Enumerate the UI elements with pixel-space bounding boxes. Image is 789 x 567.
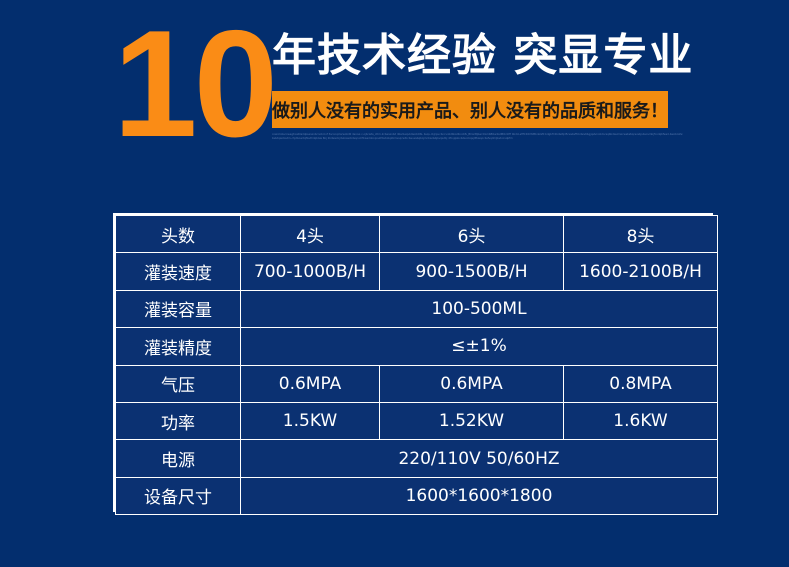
row-value-cell: 700-1000B/H xyxy=(241,253,380,290)
table-row: 头数4头6头8头 xyxy=(116,216,718,253)
row-label-cell: 设备尺寸 xyxy=(116,477,241,514)
table-row: 灌装速度700-1000B/H900-1500B/H1600-2100B/H xyxy=(116,253,718,290)
row-value-cell: 0.6MPA xyxy=(241,365,380,402)
hero-headline: 年技术经验 突显专业 xyxy=(272,30,672,82)
row-value-cell: 0.8MPA xyxy=(564,365,718,402)
row-label-cell: 电源 xyxy=(116,440,241,477)
hero-text-block: 年技术经验 突显专业 做别人没有的实用产品、别人没有的品质和服务！ cowicl… xyxy=(272,30,672,141)
spec-table-element: 头数4头6头8头灌装速度700-1000B/H900-1500B/H1600-2… xyxy=(115,215,718,515)
promo-spec-page: { "colors": { "background": "#032e6e", "… xyxy=(0,0,789,567)
table-row: 设备尺寸1600*1600*1800 xyxy=(116,477,718,514)
row-value-cell-merged: 100-500ML xyxy=(241,290,718,327)
hero-tagline-bar: 做别人没有的实用产品、别人没有的品质和服务！ xyxy=(272,91,668,128)
row-value-cell: 1.5KW xyxy=(241,402,380,439)
row-label-cell: 灌装精度 xyxy=(116,328,241,365)
hero-banner: 10 年技术经验 突显专业 做别人没有的实用产品、别人没有的品质和服务！ cow… xyxy=(0,0,789,185)
row-value-cell: 1600-2100B/H xyxy=(564,253,718,290)
row-value-cell: 0.6MPA xyxy=(380,365,564,402)
row-label-cell: 灌装速度 xyxy=(116,253,241,290)
row-value-cell-merged: 1600*1600*1800 xyxy=(241,477,718,514)
hero-tagline-text: 做别人没有的实用产品、别人没有的品质和服务！ xyxy=(272,97,668,123)
column-header-cell: 4头 xyxy=(241,216,380,253)
table-row: 电源220/110V 50/60HZ xyxy=(116,440,718,477)
table-row: 灌装容量100-500ML xyxy=(116,290,718,327)
row-value-cell: 1.6KW xyxy=(564,402,718,439)
row-value-cell-merged: ≤±1% xyxy=(241,328,718,365)
row-value-cell: 900-1500B/H xyxy=(380,253,564,290)
row-value-cell: 1.52KW xyxy=(380,402,564,439)
spec-table-body: 头数4头6头8头灌装速度700-1000B/H900-1500B/H1600-2… xyxy=(116,216,718,515)
specification-table: 头数4头6头8头灌装速度700-1000B/H900-1500B/H1600-2… xyxy=(113,213,713,512)
row-value-cell-merged: 220/110V 50/60HZ xyxy=(241,440,718,477)
row-label-cell: 灌装容量 xyxy=(116,290,241,327)
years-number: 10 xyxy=(113,8,274,160)
column-header-cell: 8头 xyxy=(564,216,718,253)
row-label-cell: 功率 xyxy=(116,402,241,439)
table-row: 气压0.6MPA0.6MPA0.8MPA xyxy=(116,365,718,402)
decorative-microtext: cowiclobscowegtniabtadqbsarwobcnobrcof 3… xyxy=(272,133,684,141)
table-row: 功率1.5KW1.52KW1.6KW xyxy=(116,402,718,439)
row-label-cell: 头数 xyxy=(116,216,241,253)
row-label-cell: 气压 xyxy=(116,365,241,402)
column-header-cell: 6头 xyxy=(380,216,564,253)
table-row: 灌装精度≤±1% xyxy=(116,328,718,365)
